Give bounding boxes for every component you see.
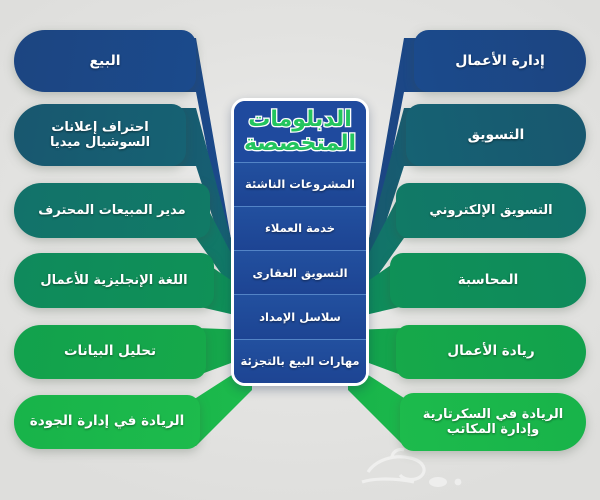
right-pill-4[interactable]: المحاسبة — [390, 253, 586, 308]
center-title-line-1: الدبلومات — [238, 108, 362, 132]
right-pill-4-label: المحاسبة — [390, 273, 586, 289]
center-title-line-2: المتخصصة — [238, 132, 362, 156]
center-row-3[interactable]: التسويق العقارى — [234, 250, 366, 294]
right-pill-1-label: إدارة الأعمال — [414, 53, 586, 70]
right-pill-5[interactable]: ريادة الأعمال — [396, 325, 586, 379]
left-pill-1-label: البيع — [14, 53, 196, 70]
center-row-5[interactable]: مهارات البيع بالتجزئة — [234, 339, 366, 383]
left-pill-3[interactable]: مدير المبيعات المحترف — [14, 183, 210, 238]
right-pill-1[interactable]: إدارة الأعمال — [414, 30, 586, 92]
left-pill-2[interactable]: احتراف إعلانات السوشيال ميديا — [14, 104, 186, 166]
left-pill-3-label: مدير المبيعات المحترف — [14, 203, 210, 218]
left-pill-1[interactable]: البيع — [14, 30, 196, 92]
right-pill-2[interactable]: التسويق — [406, 104, 586, 166]
right-pill-6-label: الريادة في السكرتارية وإدارة المكاتب — [400, 407, 586, 438]
left-pill-6-label: الريادة في إدارة الجودة — [14, 414, 200, 430]
infographic-canvas: البيع احتراف إعلانات السوشيال ميديا مدير… — [0, 0, 600, 500]
left-pill-6[interactable]: الريادة في إدارة الجودة — [14, 395, 200, 449]
center-row-4[interactable]: سلاسل الإمداد — [234, 294, 366, 338]
left-pill-5-label: تحليل البيانات — [14, 344, 206, 360]
left-pill-5[interactable]: تحليل البيانات — [14, 325, 206, 379]
right-pill-3-label: التسويق الإلكتروني — [396, 203, 586, 218]
center-panel-title: الدبلومات المتخصصة — [234, 101, 366, 162]
right-pill-2-label: التسويق — [406, 127, 586, 144]
left-pill-4[interactable]: اللغة الإنجليزية للأعمال — [14, 253, 214, 308]
left-pill-4-label: اللغة الإنجليزية للأعمال — [14, 273, 214, 288]
right-pill-6[interactable]: الريادة في السكرتارية وإدارة المكاتب — [400, 393, 586, 451]
center-row-2[interactable]: خدمة العملاء — [234, 206, 366, 250]
right-pill-5-label: ريادة الأعمال — [396, 344, 586, 360]
right-pill-3[interactable]: التسويق الإلكتروني — [396, 183, 586, 238]
center-row-1[interactable]: المشروعات الناشئة — [234, 162, 366, 206]
left-pill-2-label: احتراف إعلانات السوشيال ميديا — [14, 120, 186, 151]
center-panel: الدبلومات المتخصصة المشروعات الناشئة خدم… — [231, 98, 369, 386]
